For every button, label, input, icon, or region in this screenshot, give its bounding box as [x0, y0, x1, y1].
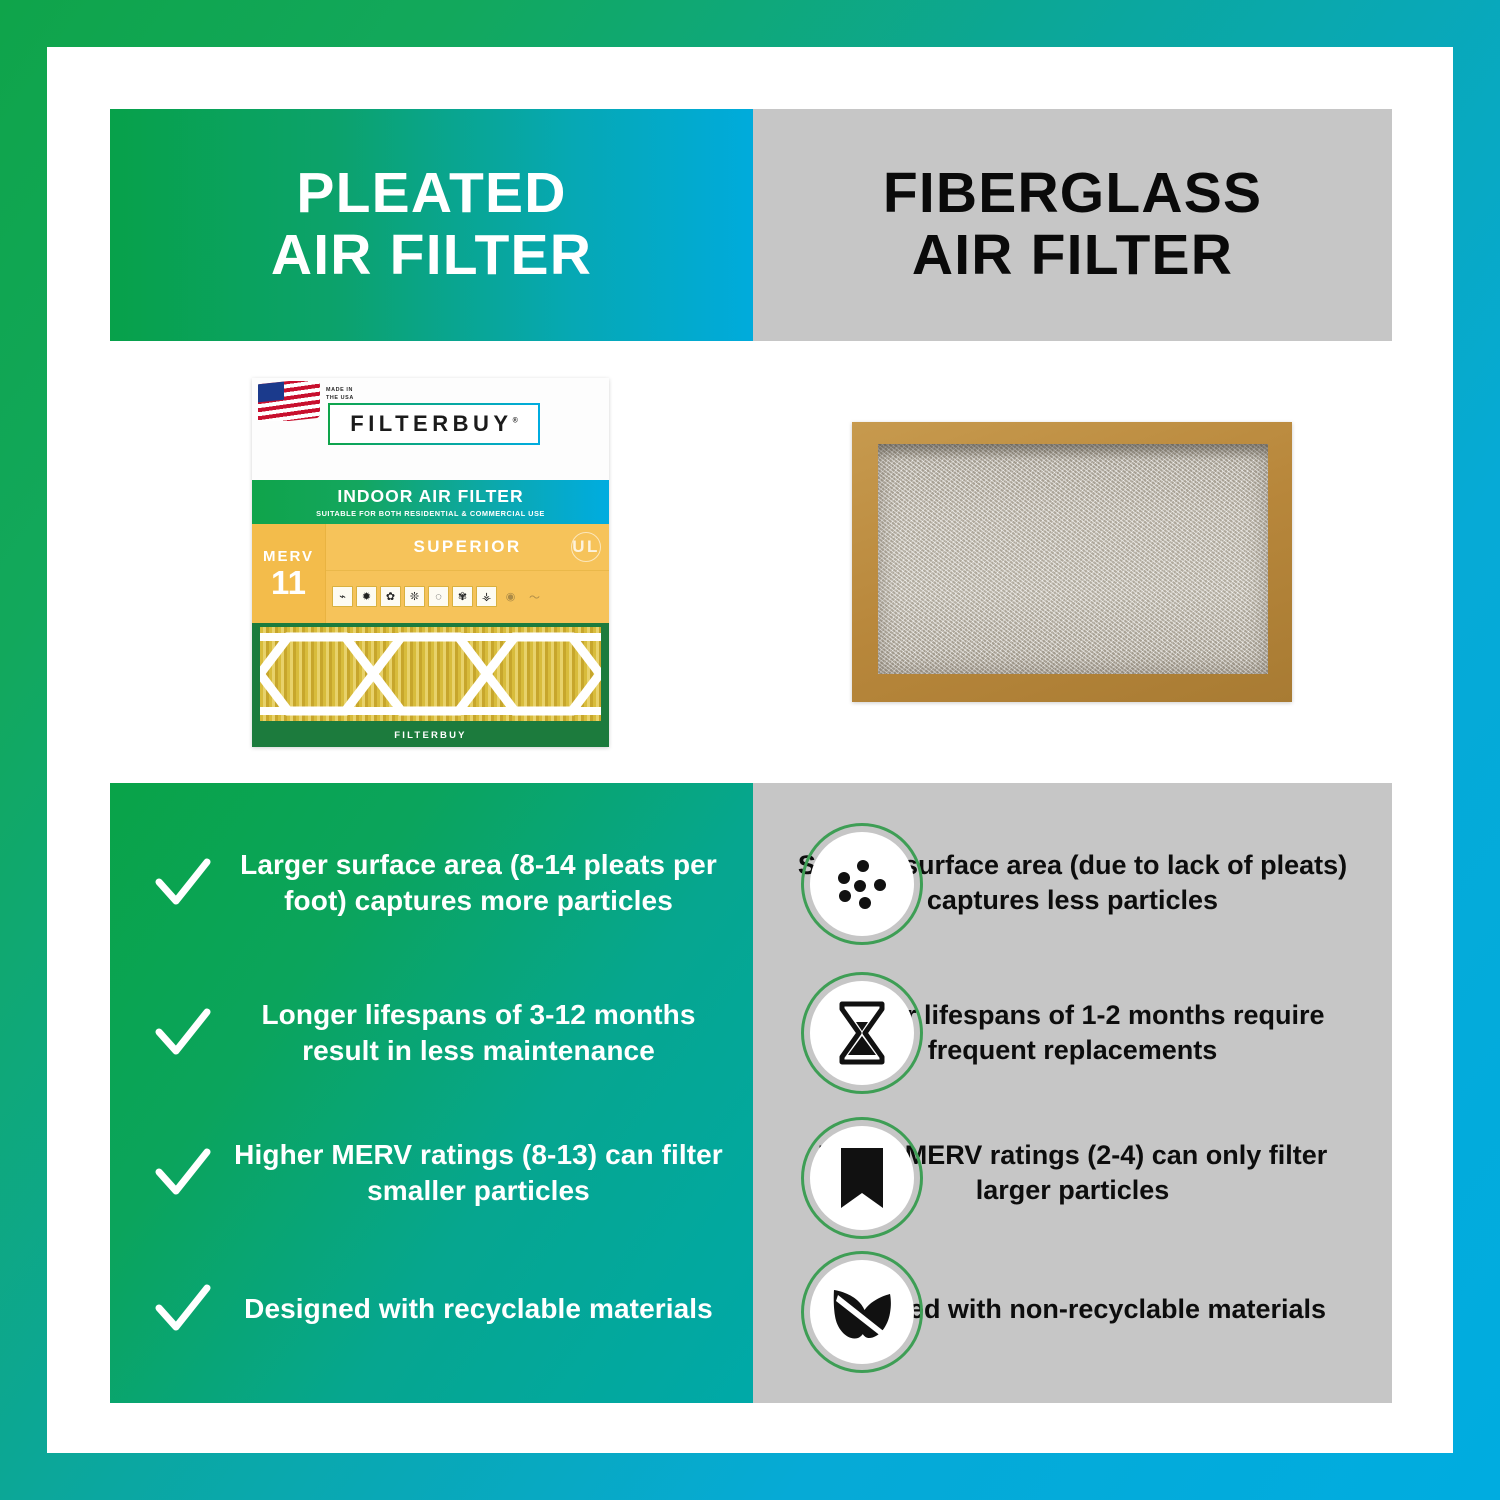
merv-label: MERV [263, 548, 314, 565]
product-images-band: MADE IN THE USA FILTERBUY® INDOOR AIR FI… [110, 341, 1392, 783]
pleated-media-area: FILTERBUY [252, 623, 609, 747]
bookmark-icon [801, 1117, 923, 1239]
fiberglass-media [878, 444, 1268, 674]
comparison-row: Designed with recyclable materials Desig… [110, 1245, 1392, 1373]
merv-badge: MERV 11 [252, 524, 326, 623]
comparison-section: Larger surface area (8-14 pleats per foo… [110, 783, 1392, 1403]
comparison-row: Higher MERV ratings (8-13) can filter sm… [110, 1109, 1392, 1237]
header-fiberglass-title: FIBERGLASS AIR FILTER [883, 163, 1262, 286]
made-in-usa-label: MADE IN THE USA [326, 386, 354, 402]
outer-gradient-frame: PLEATED AIR FILTER FIBERGLASS AIR FILTER [0, 0, 1500, 1500]
row-left-4: Designed with recyclable materials [110, 1284, 753, 1334]
header-pleated-line1: PLEATED [271, 163, 592, 225]
comparison-row: Larger surface area (8-14 pleats per foo… [110, 807, 1392, 959]
smoke-icon: ⚶ [476, 586, 497, 607]
fiberglass-filter-image [852, 422, 1292, 702]
pleated-product-cell: MADE IN THE USA FILTERBUY® INDOOR AIR FI… [110, 341, 751, 783]
box-merv-band: MERV 11 SUPERIOR UL ⌁ ✹ ✿ [252, 524, 609, 623]
odor-icon-faded: 〜 [524, 586, 545, 607]
page-canvas: PLEATED AIR FILTER FIBERGLASS AIR FILTER [47, 47, 1453, 1453]
brand-text: FILTERBUY [350, 411, 512, 436]
tier-label: SUPERIOR [414, 537, 522, 557]
mold-spore-icon: ❊ [404, 586, 425, 607]
comparison-rows: Larger surface area (8-14 pleats per foo… [110, 783, 1392, 1403]
box-footer-brand: FILTERBUY [252, 724, 609, 747]
header-fiberglass-line2: AIR FILTER [883, 225, 1262, 287]
merv-value: 11 [271, 566, 306, 599]
leaf-icon [801, 1251, 923, 1373]
wire-mesh-overlay [260, 627, 601, 721]
pollen-icon: ✿ [380, 586, 401, 607]
filterbuy-logo-frame: FILTERBUY® [328, 403, 540, 445]
feature-icon-row: ⌁ ✹ ✿ ❊ ◌ ✾ ⚶ ◉ 〜 [326, 571, 609, 623]
us-flag-icon [258, 381, 320, 421]
checkmark-icon [146, 1284, 220, 1334]
row-left-text-1: Larger surface area (8-14 pleats per foo… [220, 847, 753, 919]
header-pleated-line2: AIR FILTER [271, 225, 592, 287]
row-left-text-2: Longer lifespans of 3-12 months result i… [220, 997, 753, 1069]
insect-icon: ✹ [356, 586, 377, 607]
row-left-1: Larger surface area (8-14 pleats per foo… [110, 847, 753, 919]
header-pleated: PLEATED AIR FILTER [110, 109, 753, 341]
virus-icon-faded: ◉ [500, 586, 521, 607]
ul-certification-icon: UL [571, 532, 601, 562]
particles-icon [801, 823, 923, 945]
row-left-2: Longer lifespans of 3-12 months result i… [110, 997, 753, 1069]
dust-icon: ⌁ [332, 586, 353, 607]
made-in-line2: THE USA [326, 394, 354, 402]
header-band: PLEATED AIR FILTER FIBERGLASS AIR FILTER [110, 109, 1392, 341]
registered-mark: ® [513, 417, 518, 424]
banner-subtitle: SUITABLE FOR BOTH RESIDENTIAL & COMMERCI… [316, 509, 545, 518]
filterbuy-logo-text: FILTERBUY® [350, 411, 517, 437]
header-fiberglass: FIBERGLASS AIR FILTER [753, 109, 1392, 341]
checkmark-icon [146, 1148, 220, 1198]
tier-row: SUPERIOR UL [326, 524, 609, 571]
header-pleated-title: PLEATED AIR FILTER [271, 163, 592, 286]
fiberglass-top-shadow [878, 444, 1268, 460]
header-fiberglass-line1: FIBERGLASS [883, 163, 1262, 225]
ul-text: UL [572, 537, 599, 557]
fiberglass-product-cell [751, 341, 1392, 783]
pet-dander-icon: ✾ [452, 586, 473, 607]
filterbuy-box-image: MADE IN THE USA FILTERBUY® INDOOR AIR FI… [252, 378, 609, 747]
box-indoor-banner: INDOOR AIR FILTER SUITABLE FOR BOTH RESI… [252, 480, 609, 524]
made-in-line1: MADE IN [326, 386, 354, 394]
row-left-text-4: Designed with recyclable materials [220, 1291, 753, 1327]
box-tier-area: SUPERIOR UL ⌁ ✹ ✿ ❊ ◌ ✾ ⚶ [326, 524, 609, 623]
checkmark-icon [146, 1008, 220, 1058]
banner-title: INDOOR AIR FILTER [337, 486, 523, 507]
checkmark-icon [146, 858, 220, 908]
hourglass-icon [801, 972, 923, 1094]
row-left-3: Higher MERV ratings (8-13) can filter sm… [110, 1137, 753, 1209]
bacteria-icon: ◌ [428, 586, 449, 607]
comparison-row: Longer lifespans of 3-12 months result i… [110, 969, 1392, 1097]
row-left-text-3: Higher MERV ratings (8-13) can filter sm… [220, 1137, 753, 1209]
